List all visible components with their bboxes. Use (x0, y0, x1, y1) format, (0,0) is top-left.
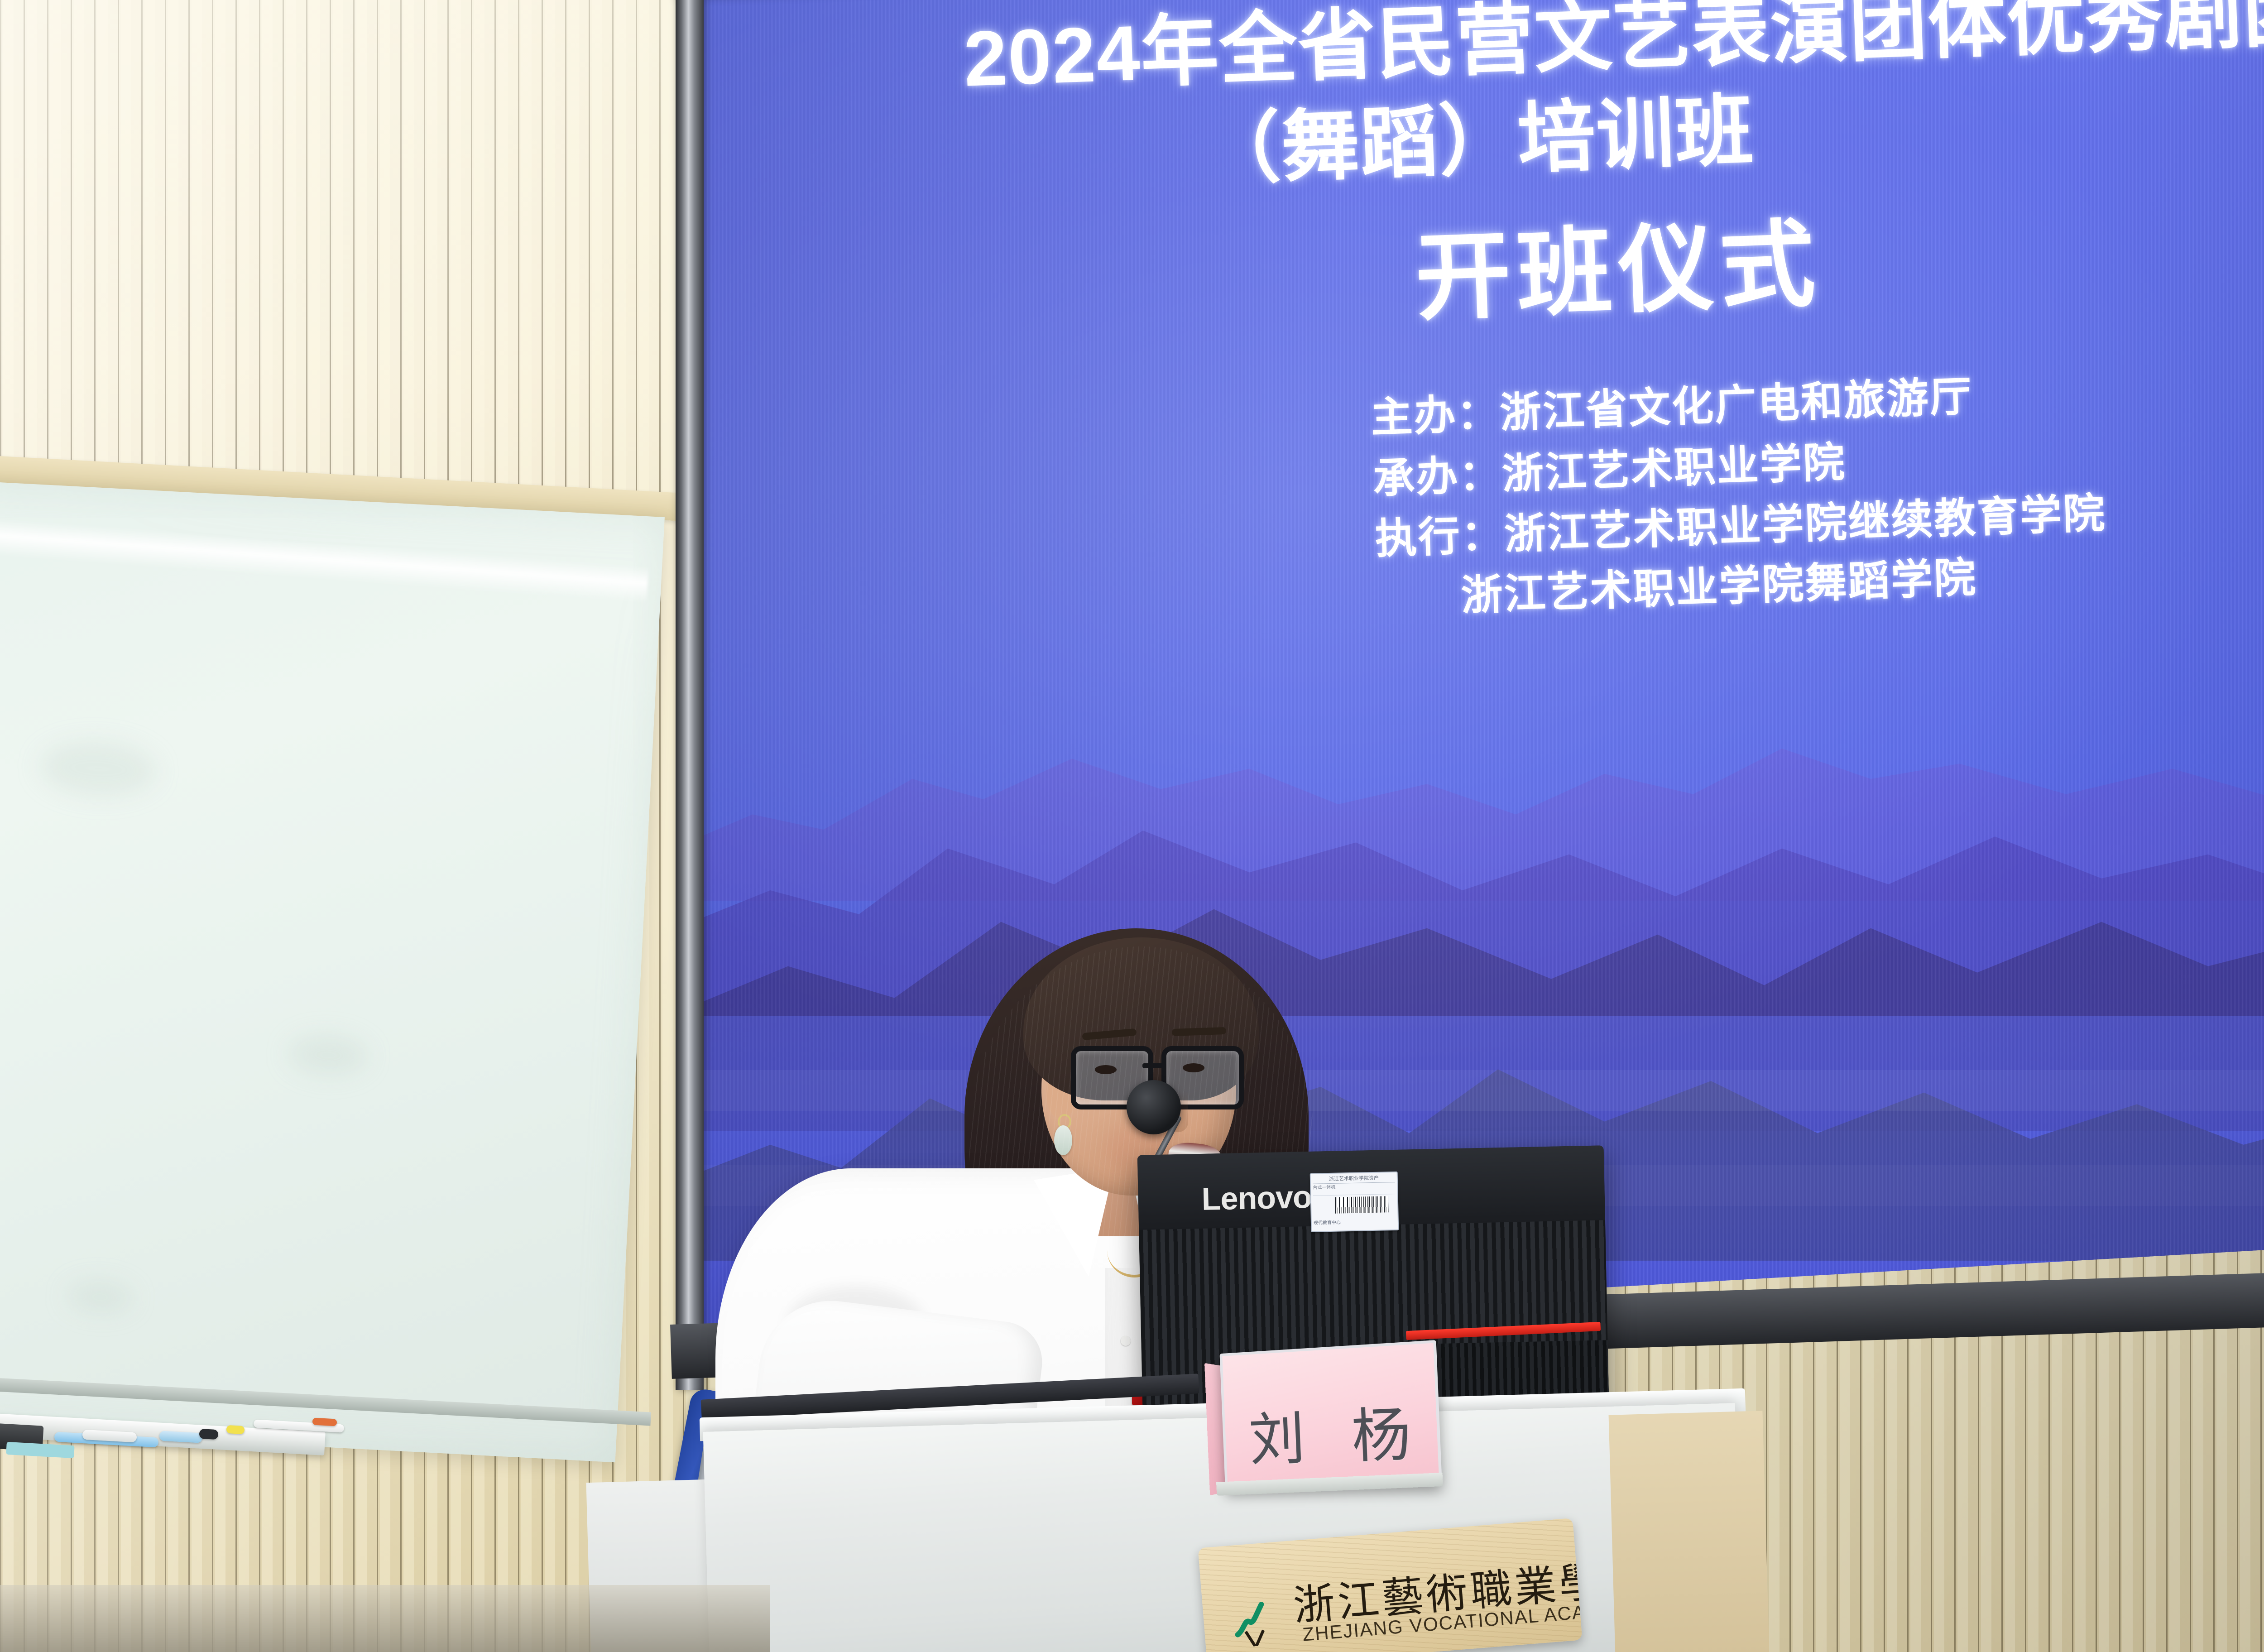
floor-shadow (0, 1585, 770, 1652)
placard-front-face: 刘 杨 (1219, 1340, 1442, 1490)
lenovo-logo: Lenovo (1201, 1179, 1312, 1217)
microphone-icon (1127, 1080, 1181, 1134)
whiteboard-smudge (65, 1279, 134, 1315)
asset-tag-row-name: 台式一体机 (1313, 1182, 1396, 1196)
whiteboard-smudge (38, 739, 158, 799)
marker-black[interactable] (199, 1429, 218, 1440)
whiteboard-glare (0, 518, 649, 603)
asset-tag-barcode (1335, 1196, 1389, 1213)
name-placard: 刘 杨 (1201, 1329, 1444, 1501)
eye-right (1183, 1063, 1204, 1072)
screen-bezel-left (676, 0, 704, 1390)
photo-scene: 2024年全省民营文艺表演团体优秀剧团演员 （舞蹈）培训班 开班仪式 主办：浙江… (0, 0, 2264, 1652)
whiteboard (0, 481, 665, 1462)
placard-name-text: 刘 杨 (1224, 1385, 1439, 1477)
marker-yellow[interactable] (226, 1425, 245, 1434)
asset-tag-row-unit: 现代教育中心 (1314, 1217, 1396, 1231)
eye-left (1095, 1065, 1117, 1074)
glasses-bridge (1142, 1063, 1164, 1068)
academy-logo-icon (1229, 1585, 1293, 1648)
asset-tag-sticker: 浙江艺术职业学院资产 台式一体机 现代教育中心 (1310, 1172, 1399, 1232)
whiteboard-smudge (286, 1032, 369, 1077)
marker-orange[interactable] (312, 1418, 337, 1426)
podium-side-wood-panel (1609, 1411, 1770, 1652)
